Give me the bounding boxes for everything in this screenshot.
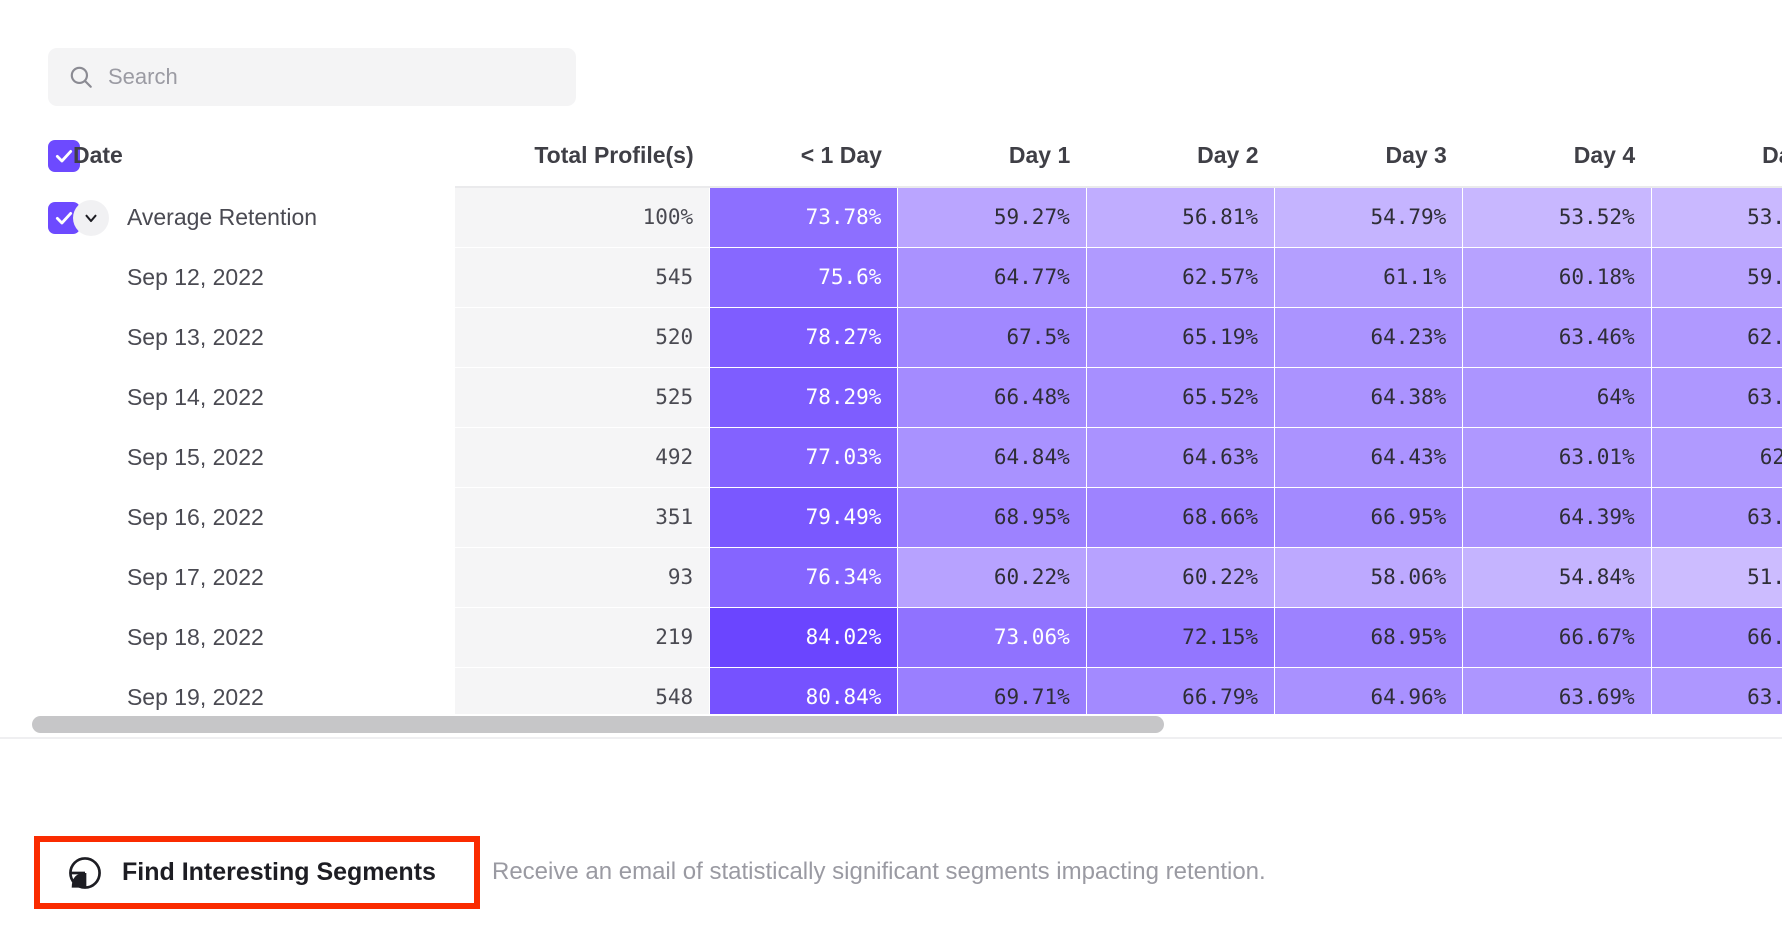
row-label-text: Sep 12, 2022 [127,264,264,291]
column-header-day-0[interactable]: < 1 Day [710,125,898,187]
cell-total-profiles: 545 [455,247,709,307]
find-interesting-segments-description: Receive an email of statistically signif… [492,858,1266,886]
row-checkbox-cell [0,487,73,547]
heatmap-cell[interactable]: 78.27% [710,307,898,367]
column-header-date[interactable]: Date [73,125,455,187]
heatmap-cell[interactable]: 56.81% [1086,187,1274,247]
heatmap-cell[interactable]: 73.06% [898,607,1086,667]
cell-total-profiles: 219 [455,607,709,667]
heatmap-cell[interactable]: 72.15% [1086,607,1274,667]
table-row[interactable]: Sep 18, 202221984.02%73.06%72.15%68.95%6… [0,607,1782,667]
cell-total-profiles: 525 [455,367,709,427]
row-label-text: Sep 18, 2022 [127,624,264,651]
row-checkbox-cell [0,427,73,487]
heatmap-cell[interactable]: 53.52% [1463,187,1651,247]
row-label-date: Sep 13, 2022 [73,307,455,367]
row-label-date: Sep 17, 2022 [73,547,455,607]
heatmap-cell[interactable]: 78.29% [710,367,898,427]
retention-table-container[interactable]: Date Total Profile(s) < 1 Day Day 1 Day … [0,125,1782,725]
row-label-text: Sep 13, 2022 [127,324,264,351]
cell-total-profiles: 351 [455,487,709,547]
row-label-average: Average Retention [73,187,455,247]
heatmap-cell[interactable]: 75.6% [710,247,898,307]
row-checkbox-cell [0,247,73,307]
heatmap-cell[interactable]: 66.95% [1275,487,1463,547]
heatmap-cell[interactable]: 67.5% [898,307,1086,367]
row-label-text: Sep 14, 2022 [127,384,264,411]
heatmap-cell[interactable]: 64% [1463,367,1651,427]
heatmap-cell[interactable]: 60.22% [898,547,1086,607]
horizontal-scrollbar-thumb[interactable] [32,716,1164,733]
column-header-total-profiles[interactable]: Total Profile(s) [455,125,709,187]
heatmap-cell[interactable]: 77.03% [710,427,898,487]
table-row[interactable]: Sep 15, 202249277.03%64.84%64.63%64.43%6… [0,427,1782,487]
row-checkbox-cell [0,547,73,607]
find-interesting-segments-button[interactable]: Find Interesting Segments [34,836,480,909]
row-checkbox-cell [0,607,73,667]
heatmap-cell[interactable]: 63.01% [1463,427,1651,487]
pie-chart-icon [66,854,104,892]
heatmap-cell[interactable]: 76.34% [710,547,898,607]
row-checkbox-cell[interactable] [0,187,73,247]
heatmap-cell[interactable]: 64.39% [1463,487,1651,547]
retention-table: Date Total Profile(s) < 1 Day Day 1 Day … [0,125,1782,725]
heatmap-cell[interactable]: 59.27% [1651,247,1782,307]
heatmap-cell[interactable]: 54.79% [1275,187,1463,247]
heatmap-cell[interactable]: 65.52% [1086,367,1274,427]
row-label-text: Sep 19, 2022 [127,684,264,711]
table-header: Date Total Profile(s) < 1 Day Day 1 Day … [0,125,1782,187]
heatmap-cell[interactable]: 64.63% [1086,427,1274,487]
heatmap-cell[interactable]: 64.43% [1275,427,1463,487]
column-header-day-5[interactable]: Day 5 [1651,125,1782,187]
heatmap-cell[interactable]: 64.23% [1275,307,1463,367]
row-checkbox-cell [0,367,73,427]
heatmap-cell[interactable]: 63.46% [1463,307,1651,367]
heatmap-cell[interactable]: 84.02% [710,607,898,667]
heatmap-cell[interactable]: 59.27% [898,187,1086,247]
heatmap-cell[interactable]: 63.25% [1651,487,1782,547]
heatmap-cell[interactable]: 60.22% [1086,547,1274,607]
table-row[interactable]: Sep 14, 202252578.29%66.48%65.52%64.38%6… [0,367,1782,427]
table-row[interactable]: Sep 12, 202254575.6%64.77%62.57%61.1%60.… [0,247,1782,307]
heatmap-cell[interactable]: 64.38% [1275,367,1463,427]
search-icon [68,64,94,90]
heatmap-cell[interactable]: 64.84% [898,427,1086,487]
heatmap-cell[interactable]: 66.67% [1463,607,1651,667]
row-label-date: Sep 16, 2022 [73,487,455,547]
chevron-down-icon[interactable] [73,200,109,236]
row-label-date: Sep 15, 2022 [73,427,455,487]
heatmap-cell[interactable]: 60.18% [1463,247,1651,307]
heatmap-cell[interactable]: 62.69% [1651,307,1782,367]
cell-total-profiles: 100% [455,187,709,247]
heatmap-cell[interactable]: 54.84% [1463,547,1651,607]
row-label-text: Sep 15, 2022 [127,444,264,471]
select-all-header[interactable] [0,125,73,187]
heatmap-cell[interactable]: 68.66% [1086,487,1274,547]
row-label-text: Sep 16, 2022 [127,504,264,531]
heatmap-cell[interactable]: 51.61% [1651,547,1782,607]
row-label-text: Sep 17, 2022 [127,564,264,591]
row-label-text: Average Retention [127,204,317,231]
heatmap-cell[interactable]: 73.78% [710,187,898,247]
find-interesting-segments-label: Find Interesting Segments [122,858,436,887]
column-header-day-3[interactable]: Day 3 [1275,125,1463,187]
heatmap-cell[interactable]: 79.49% [710,487,898,547]
heatmap-cell[interactable]: 68.95% [1275,607,1463,667]
table-body: Average Retention100%73.78%59.27%56.81%5… [0,187,1782,725]
column-header-day-2[interactable]: Day 2 [1086,125,1274,187]
row-checkbox-cell [0,307,73,367]
row-label-date: Sep 18, 2022 [73,607,455,667]
search-box[interactable] [48,48,576,106]
table-row[interactable]: Sep 16, 202235179.49%68.95%68.66%66.95%6… [0,487,1782,547]
heatmap-cell[interactable]: 66.48% [898,367,1086,427]
heatmap-cell[interactable]: 66.21% [1651,607,1782,667]
heatmap-cell[interactable]: 62.57% [1086,247,1274,307]
header-row: Date Total Profile(s) < 1 Day Day 1 Day … [0,125,1782,187]
heatmap-cell[interactable]: 68.95% [898,487,1086,547]
heatmap-cell[interactable]: 53.26% [1651,187,1782,247]
table-row[interactable]: Sep 13, 202252078.27%67.5%65.19%64.23%63… [0,307,1782,367]
table-row[interactable]: Sep 17, 20229376.34%60.22%60.22%58.06%54… [0,547,1782,607]
row-label-date: Sep 12, 2022 [73,247,455,307]
heatmap-cell[interactable]: 58.06% [1275,547,1463,607]
column-header-day-1[interactable]: Day 1 [898,125,1086,187]
heatmap-cell[interactable]: 63.24% [1651,367,1782,427]
table-row[interactable]: Average Retention100%73.78%59.27%56.81%5… [0,187,1782,247]
row-label-date: Sep 14, 2022 [73,367,455,427]
heatmap-cell[interactable]: 61.1% [1275,247,1463,307]
retention-table-screen: Date Total Profile(s) < 1 Day Day 1 Day … [0,0,1782,930]
column-header-day-4[interactable]: Day 4 [1463,125,1651,187]
search-input[interactable] [108,48,556,106]
cell-total-profiles: 520 [455,307,709,367]
heatmap-cell[interactable]: 65.19% [1086,307,1274,367]
cell-total-profiles: 93 [455,547,709,607]
cell-total-profiles: 492 [455,427,709,487]
heatmap-cell[interactable]: 62.6% [1651,427,1782,487]
heatmap-cell[interactable]: 64.77% [898,247,1086,307]
